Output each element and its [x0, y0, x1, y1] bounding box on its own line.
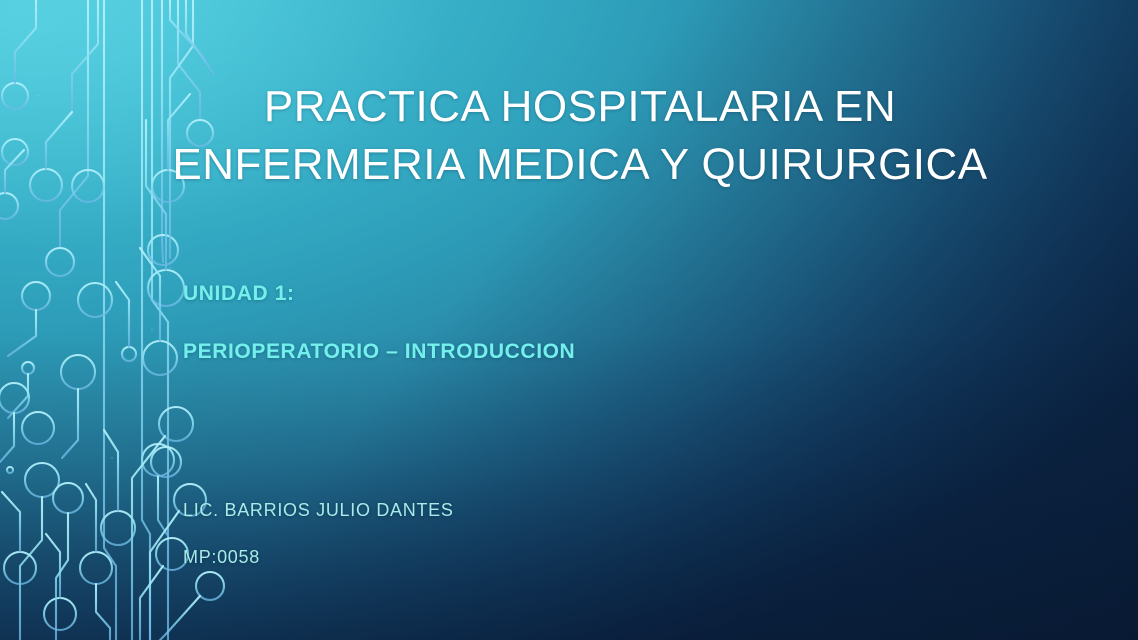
slide-subtitle-line-2: PERIOPERATORIO – INTRODUCCION — [183, 340, 575, 364]
slide-subtitle-line-1: UNIDAD 1: — [183, 282, 295, 306]
author-name: LIC. BARRIOS JULIO DANTES — [183, 500, 454, 521]
license-number: MP:0058 — [183, 547, 260, 568]
title-slide: PRACTICA HOSPITALARIA EN ENFERMERIA MEDI… — [0, 0, 1138, 640]
slide-title: PRACTICA HOSPITALARIA EN ENFERMERIA MEDI… — [150, 78, 1010, 194]
